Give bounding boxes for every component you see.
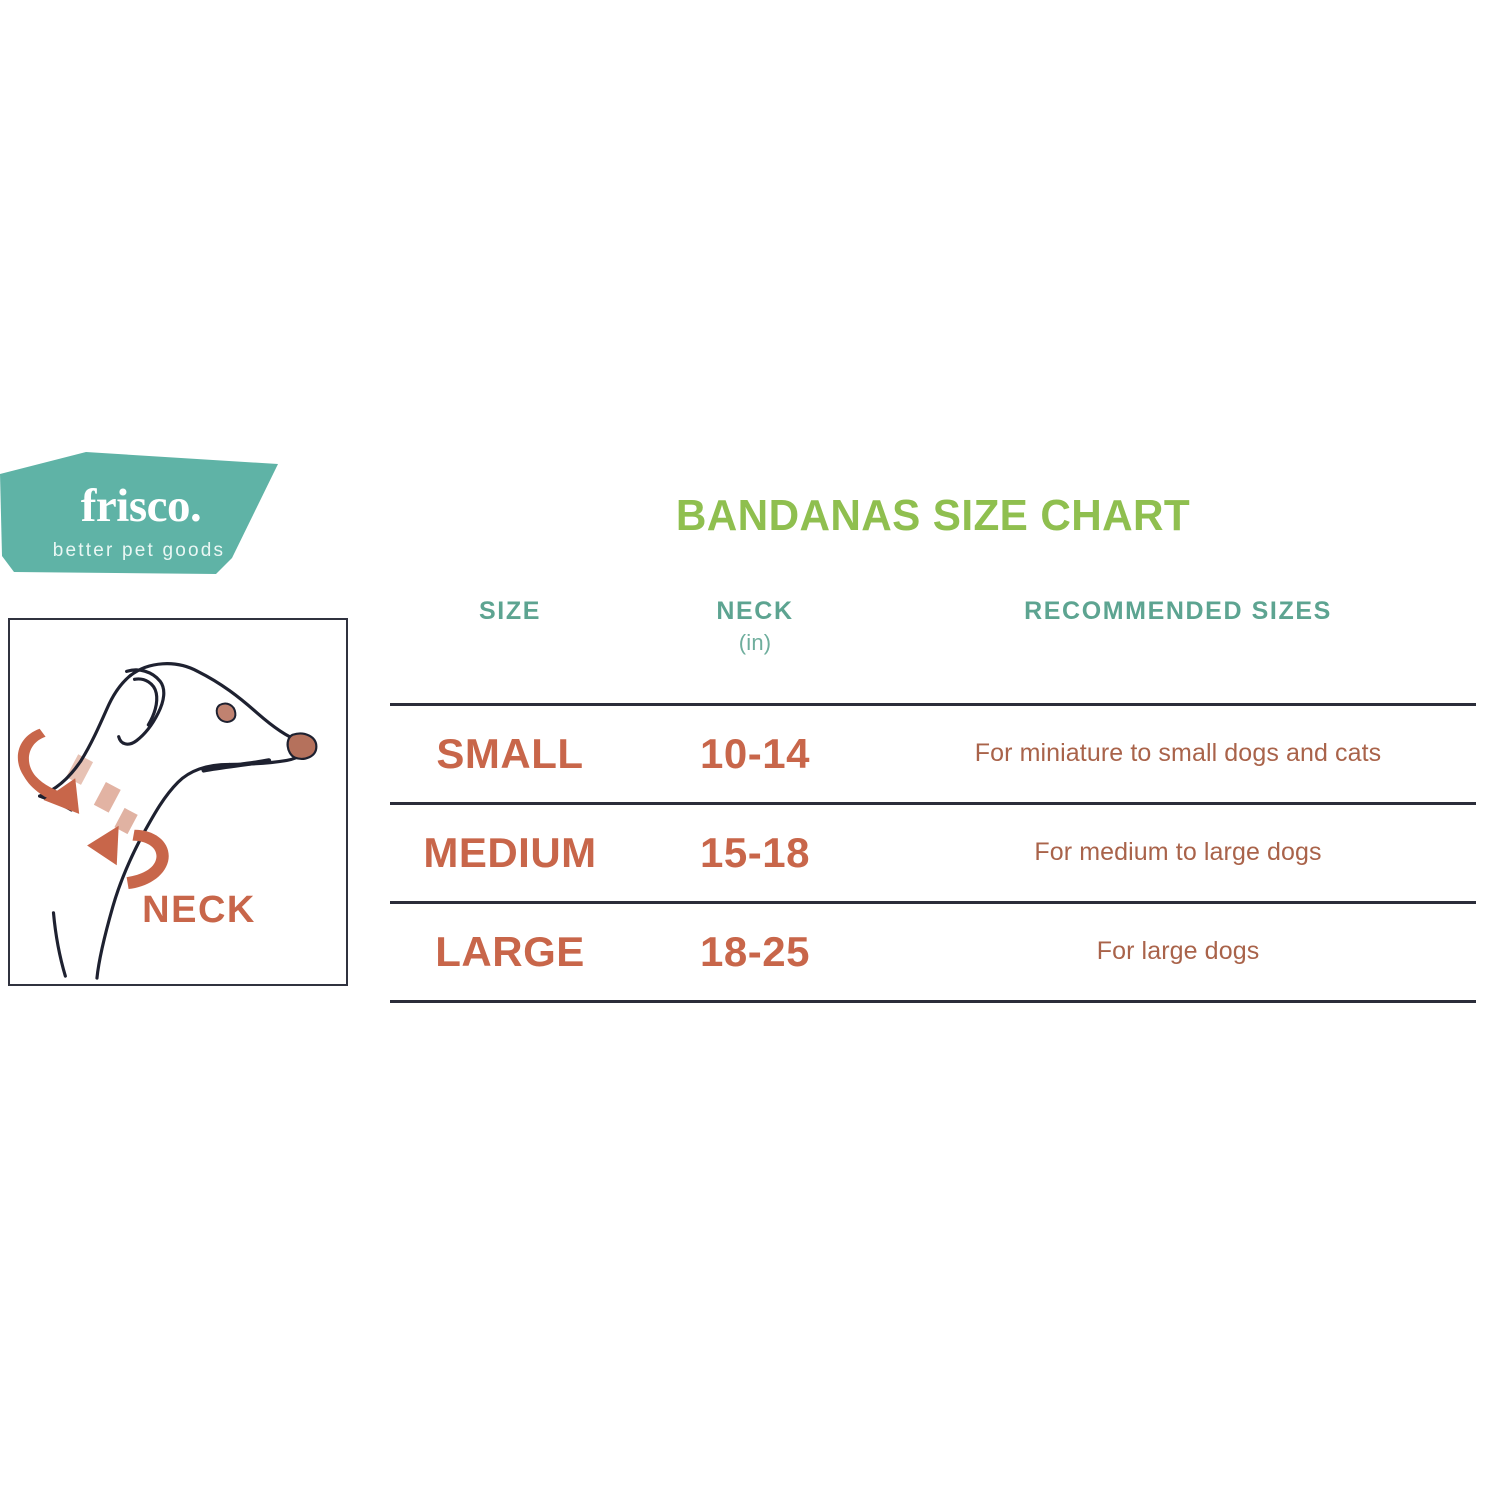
logo-wordmark: frisco. (81, 483, 201, 530)
row-size-medium: MEDIUM (390, 803, 630, 902)
neck-measure-arrows (18, 729, 169, 889)
row-recommended-small: For miniature to small dogs and cats (880, 704, 1476, 803)
table-header: SIZE NECK (in) RECOMMENDED SIZES (390, 598, 1476, 704)
table-body: SMALL 10-14 For miniature to small dogs … (390, 704, 1476, 1001)
dog-eye (217, 704, 236, 722)
column-header-neck-unit: (in) (630, 626, 880, 659)
header-spacer-row (390, 665, 1476, 705)
neck-measurement-illustration: NECK (8, 618, 348, 986)
row-neck-medium: 15-18 (630, 803, 880, 902)
logo-text-group: frisco. better pet goods (0, 452, 278, 584)
column-header-recommended: RECOMMENDED SIZES (880, 598, 1476, 665)
row-neck-small: 10-14 (630, 704, 880, 803)
frisco-logo: frisco. better pet goods (0, 452, 278, 584)
row-recommended-large: For large dogs (880, 902, 1476, 1001)
column-header-size: SIZE (390, 598, 630, 665)
size-chart-section: BANDANAS SIZE CHART SIZE NECK (in) RECOM… (390, 480, 1476, 1003)
size-chart-table: SIZE NECK (in) RECOMMENDED SIZES SMALL 1… (390, 598, 1476, 1003)
column-header-size-label: SIZE (390, 598, 630, 626)
row-neck-large: 18-25 (630, 902, 880, 1001)
table-row: SMALL 10-14 For miniature to small dogs … (390, 704, 1476, 803)
table-row: MEDIUM 15-18 For medium to large dogs (390, 803, 1476, 902)
dog-nose (288, 733, 317, 758)
row-size-small: SMALL (390, 704, 630, 803)
neck-label: NECK (10, 889, 346, 932)
table-row: LARGE 18-25 For large dogs (390, 902, 1476, 1001)
column-header-neck: NECK (in) (630, 598, 880, 665)
row-size-large: LARGE (390, 902, 630, 1001)
page-title: BANDANAS SIZE CHART (412, 480, 1455, 540)
column-header-neck-label: NECK (630, 598, 880, 626)
logo-tagline: better pet goods (53, 541, 226, 560)
row-recommended-medium: For medium to large dogs (880, 803, 1476, 902)
column-header-recommended-label: RECOMMENDED SIZES (880, 598, 1476, 626)
